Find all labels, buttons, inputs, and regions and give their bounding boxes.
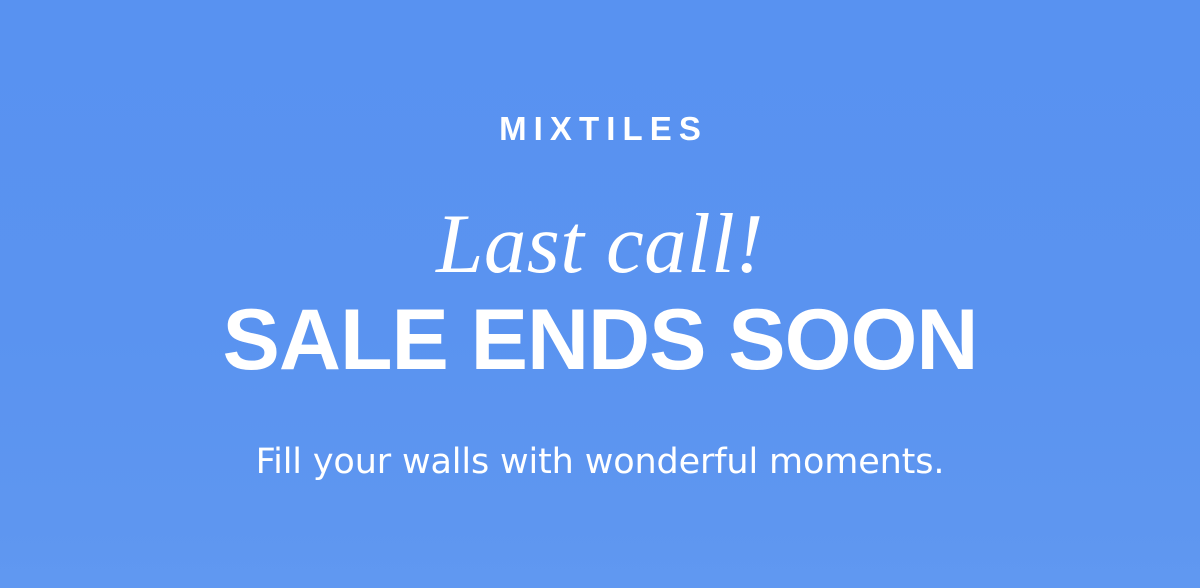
subtitle-row: Fill your walls with wonderful moments. [0,440,1200,484]
brand-logo: MIXTILES [0,0,1200,145]
main-headline: SALE ENDS SOON [0,292,1200,388]
brand-logo-text: MIXTILES [492,112,708,145]
subtitle-text: Fill your walls with wonderful moments. [0,440,1200,484]
script-headline: Last call! [0,196,1200,292]
headline-block: Last call! SALE ENDS SOON [0,196,1200,388]
promo-banner: MIXTILES Last call! SALE ENDS SOON Fill … [0,0,1200,588]
